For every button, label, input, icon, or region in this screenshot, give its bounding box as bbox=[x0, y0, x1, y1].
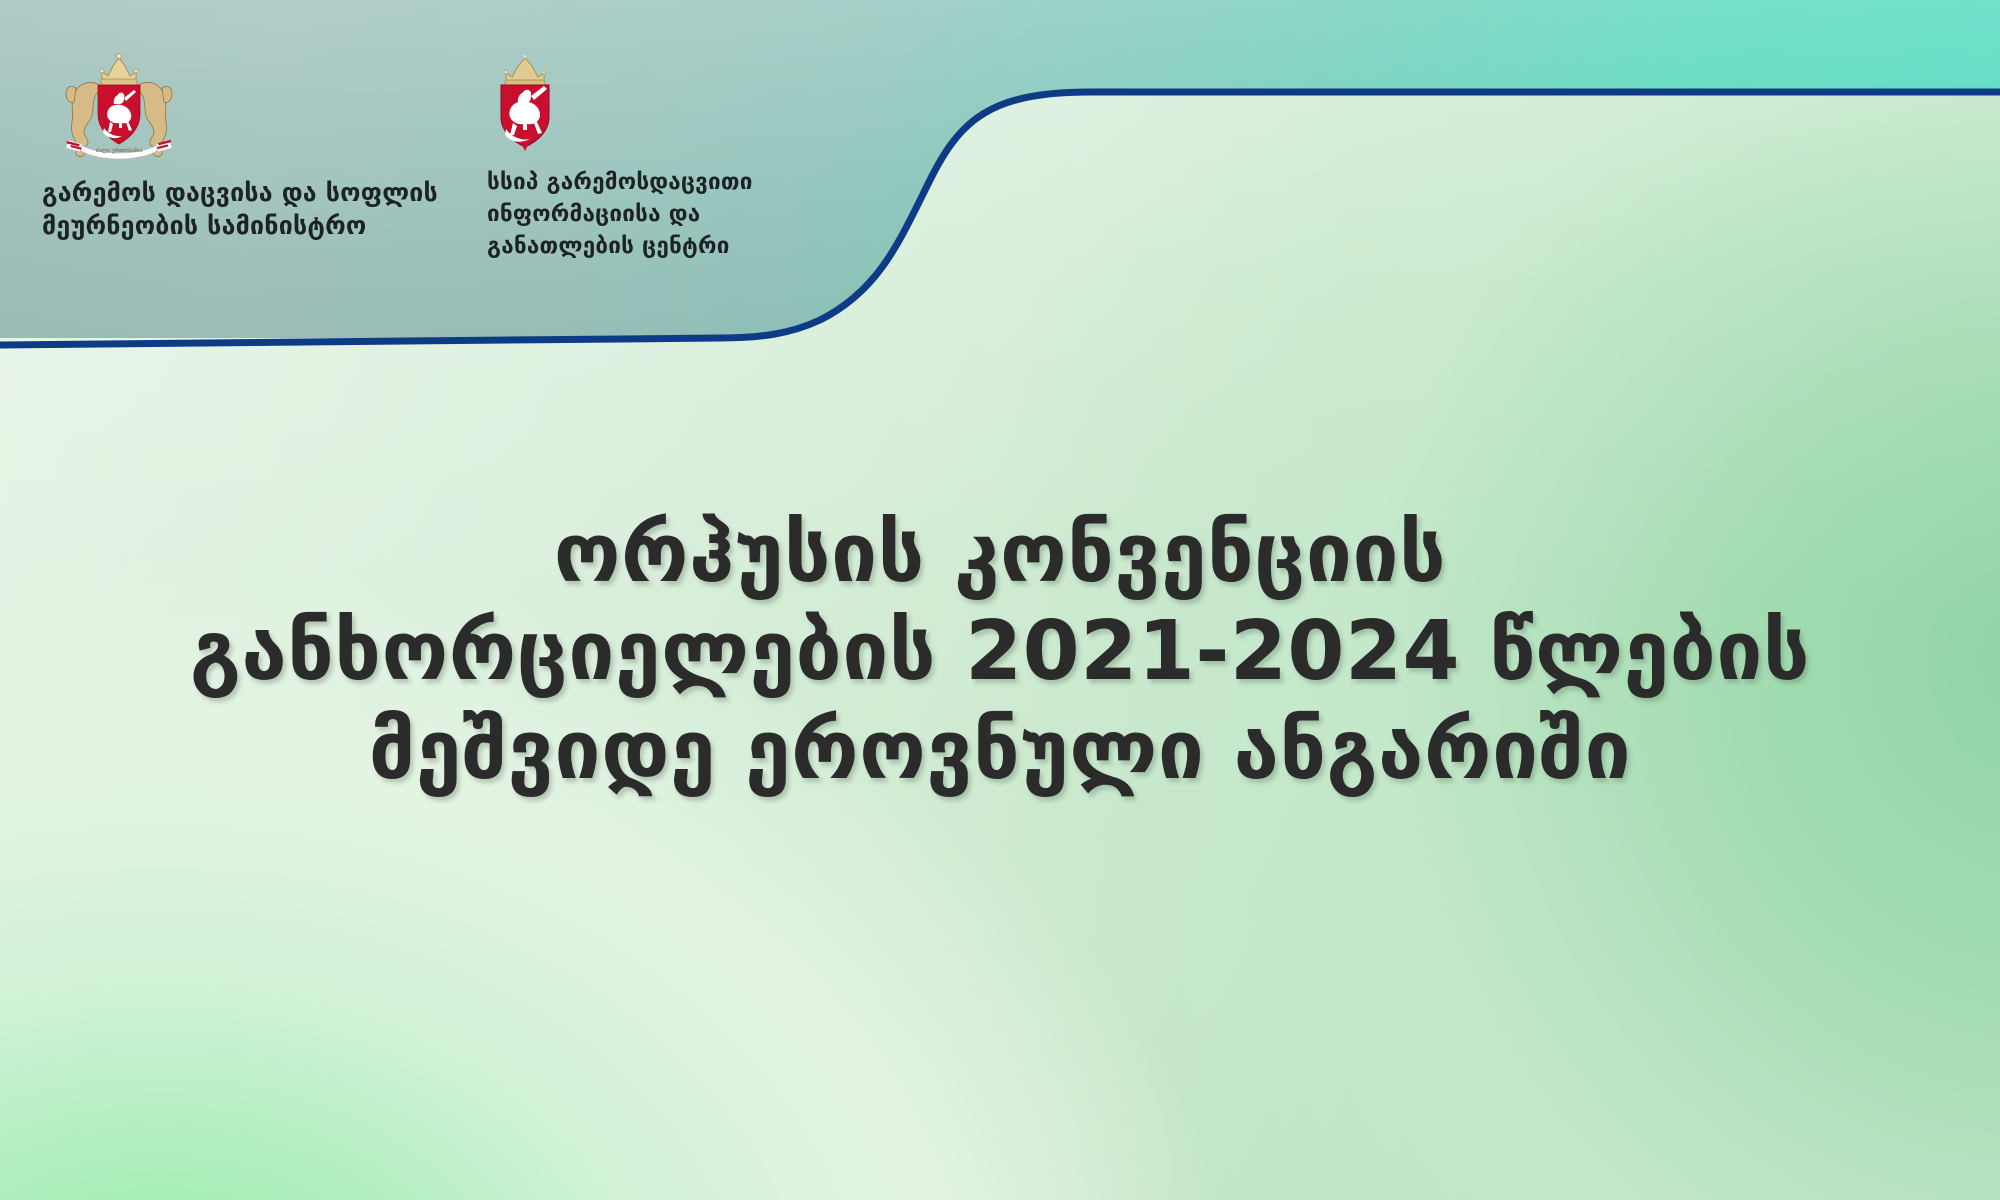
logo-ministry: ძალა ერთობაშია გარემოს დაცვისა და სოფლის… bbox=[42, 52, 462, 243]
page-title-wrap: ორჰუსის კონვენციის განხორციელების 2021-2… bbox=[0, 505, 2000, 800]
logo-ministry-name: გარემოს დაცვისა და სოფლის მეურნეობის სამ… bbox=[42, 176, 438, 243]
logo-lockups: ძალა ერთობაშია გარემოს დაცვისა და სოფლის… bbox=[0, 0, 900, 340]
georgia-coat-of-arms-icon: ძალა ერთობაშია bbox=[58, 52, 180, 164]
svg-text:ძალა ერთობაშია: ძალა ერთობაშია bbox=[96, 147, 143, 154]
georgia-small-coat-of-arms-icon bbox=[494, 55, 556, 151]
title-slide: ძალა ერთობაშია გარემოს დაცვისა და სოფლის… bbox=[0, 0, 2000, 1200]
page-title: ორჰუსის კონვენციის განხორციელების 2021-2… bbox=[0, 505, 2000, 800]
logo-center: სსიპ გარემოსდაცვითი ინფორმაციისა და განა… bbox=[487, 55, 817, 263]
logo-center-name: სსიპ გარემოსდაცვითი ინფორმაციისა და განა… bbox=[487, 167, 753, 263]
